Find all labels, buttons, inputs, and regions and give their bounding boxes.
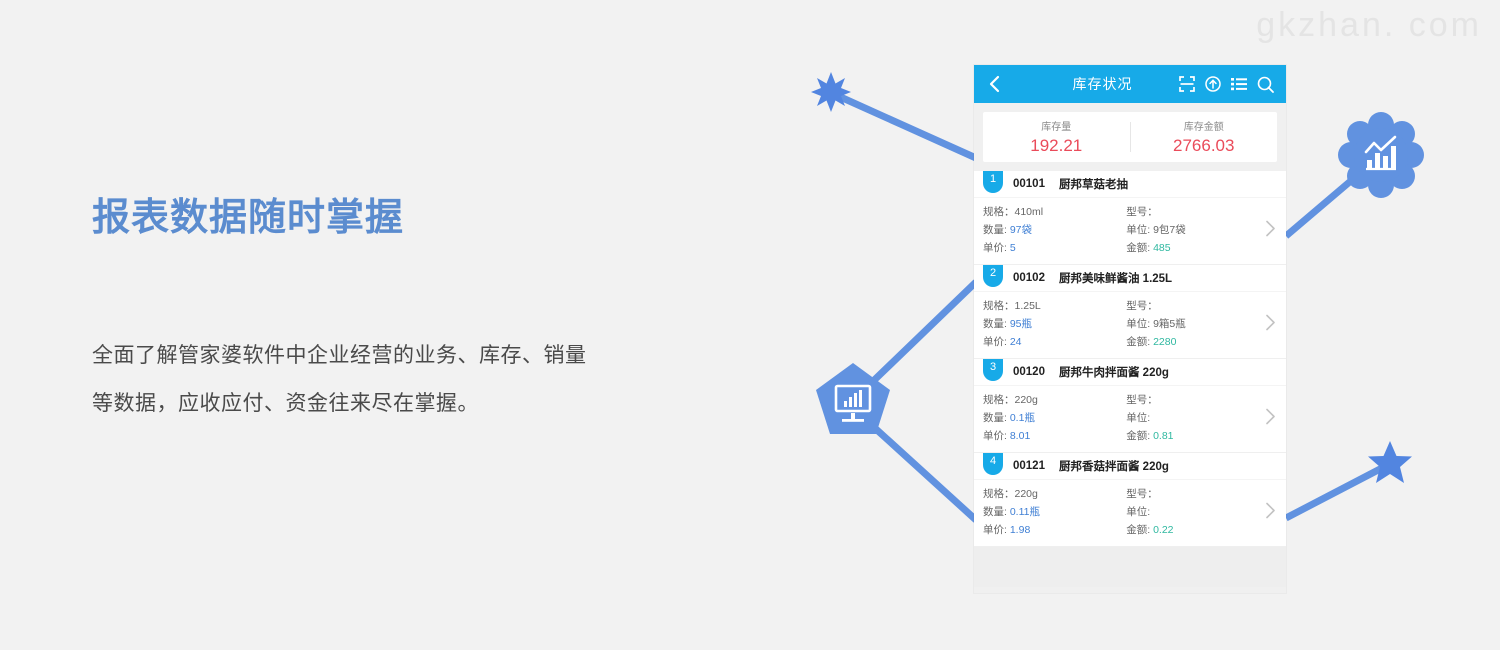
amount-value: 0.22: [1153, 524, 1173, 536]
unit-label: 单位:: [1126, 412, 1150, 424]
star-badge: [1368, 441, 1412, 483]
back-button[interactable]: [984, 75, 1006, 93]
spec-label: 规格：: [983, 488, 1015, 500]
unit-label: 单位:: [1126, 506, 1150, 518]
marketing-copy: 报表数据随时掌握: [92, 196, 612, 242]
item-left-column: 规格：410ml 数量: 97袋 单价: 5: [983, 203, 1118, 257]
item-unit-row: 单位: 9包7袋: [1126, 221, 1261, 239]
qty-label: 数量:: [983, 224, 1007, 236]
inventory-summary-card: 库存量 192.21 库存金额 2766.03: [983, 112, 1277, 162]
item-left-column: 规格：1.25L 数量: 95瓶 单价: 24: [983, 297, 1118, 351]
spec-value: 410ml: [1015, 206, 1044, 218]
item-code: 00121: [1013, 460, 1045, 472]
page-title: 报表数据随时掌握: [92, 196, 612, 242]
search-icon[interactable]: [1257, 76, 1274, 93]
qty-value: 95瓶: [1010, 318, 1032, 330]
item-name: 厨邦美味鲜酱油 1.25L: [1059, 270, 1172, 286]
pentagon-shape: [816, 363, 890, 434]
inventory-list: 1 00101 厨邦草菇老抽 规格：410ml 数量: 97袋 单价: 5 型号…: [974, 171, 1286, 547]
spec-value: 220g: [1015, 488, 1038, 500]
starburst-badge: [811, 72, 851, 112]
item-model-row: 型号：: [1126, 391, 1261, 409]
chevron-left-icon: [989, 75, 1001, 93]
phone-mockup: 库存状况: [974, 65, 1286, 593]
item-left-column: 规格：220g 数量: 0.1瓶 单价: 8.01: [983, 391, 1118, 445]
bar-line-chart-icon: [1366, 137, 1396, 169]
list-item[interactable]: 4 00121 厨邦香菇拌面酱 220g 规格：220g 数量: 0.11瓶 单…: [974, 453, 1286, 547]
model-label: 型号：: [1126, 488, 1158, 500]
price-label: 单价:: [983, 524, 1007, 536]
spec-label: 规格：: [983, 394, 1015, 406]
item-right-column: 型号： 单位: 金额: 0.81: [1118, 391, 1261, 445]
item-spec-row: 规格：410ml: [983, 203, 1118, 221]
item-qty-row: 数量: 0.11瓶: [983, 503, 1118, 521]
item-qty-row: 数量: 97袋: [983, 221, 1118, 239]
chevron-right-icon[interactable]: [1265, 314, 1276, 337]
item-code: 00120: [1013, 366, 1045, 378]
summary-value: 2766.03: [1131, 136, 1278, 156]
item-index-badge: 4: [983, 453, 1003, 475]
item-model-row: 型号：: [1126, 485, 1261, 503]
item-amount-row: 金额: 485: [1126, 239, 1261, 257]
item-name: 厨邦香菇拌面酱 220g: [1059, 458, 1169, 474]
item-spec-row: 规格：1.25L: [983, 297, 1118, 315]
price-label: 单价:: [983, 430, 1007, 442]
item-model-row: 型号：: [1126, 203, 1261, 221]
list-empty-area: [974, 547, 1286, 587]
model-label: 型号：: [1126, 206, 1158, 218]
app-topbar: 库存状况: [974, 65, 1286, 103]
chevron-right-icon[interactable]: [1265, 408, 1276, 431]
scan-frame-icon[interactable]: [1179, 76, 1195, 92]
amount-value: 2280: [1153, 336, 1176, 348]
list-item-header: 3 00120 厨邦牛肉拌面酱 220g: [974, 359, 1286, 386]
item-code: 00101: [1013, 178, 1045, 190]
unit-value: 9包7袋: [1153, 224, 1186, 236]
model-label: 型号：: [1126, 394, 1158, 406]
connector-line-cloud: [1286, 168, 1366, 236]
item-qty-row: 数量: 0.1瓶: [983, 409, 1118, 427]
item-unit-row: 单位:: [1126, 503, 1261, 521]
unit-value: 9箱5瓶: [1153, 318, 1186, 330]
qty-value: 0.1瓶: [1010, 412, 1035, 424]
summary-cell-amount: 库存金额 2766.03: [1131, 118, 1278, 156]
spec-value: 1.25L: [1015, 300, 1041, 312]
qty-value: 0.11瓶: [1010, 506, 1040, 518]
item-price-row: 单价: 5: [983, 239, 1118, 257]
price-label: 单价:: [983, 242, 1007, 254]
star-icon: [1368, 441, 1412, 483]
qty-value: 97袋: [1010, 224, 1032, 236]
list-icon[interactable]: [1231, 77, 1247, 91]
item-name: 厨邦草菇老抽: [1059, 176, 1128, 192]
amount-value: 0.81: [1153, 430, 1173, 442]
amount-label: 金额:: [1126, 524, 1150, 536]
item-right-column: 型号： 单位: 金额: 0.22: [1118, 485, 1261, 539]
item-price-row: 单价: 1.98: [983, 521, 1118, 539]
price-value: 5: [1010, 242, 1016, 254]
amount-label: 金额:: [1126, 242, 1150, 254]
price-value: 1.98: [1010, 524, 1030, 536]
summary-label: 库存量: [983, 118, 1130, 133]
connector-line-pentagon-upper: [866, 282, 976, 388]
item-spec-row: 规格：220g: [983, 485, 1118, 503]
item-left-column: 规格：220g 数量: 0.11瓶 单价: 1.98: [983, 485, 1118, 539]
item-price-row: 单价: 8.01: [983, 427, 1118, 445]
price-value: 8.01: [1010, 430, 1030, 442]
list-item-body: 规格：220g 数量: 0.11瓶 单价: 1.98 型号： 单位: 金额: 0…: [974, 480, 1286, 546]
list-item[interactable]: 1 00101 厨邦草菇老抽 规格：410ml 数量: 97袋 单价: 5 型号…: [974, 171, 1286, 265]
topbar-actions: [1179, 76, 1276, 93]
list-item[interactable]: 3 00120 厨邦牛肉拌面酱 220g 规格：220g 数量: 0.1瓶 单价…: [974, 359, 1286, 453]
item-unit-row: 单位: 9箱5瓶: [1126, 315, 1261, 333]
item-unit-row: 单位:: [1126, 409, 1261, 427]
item-code: 00102: [1013, 272, 1045, 284]
list-item-header: 2 00102 厨邦美味鲜酱油 1.25L: [974, 265, 1286, 292]
qty-label: 数量:: [983, 318, 1007, 330]
summary-value: 192.21: [983, 136, 1130, 156]
spec-label: 规格：: [983, 300, 1015, 312]
qty-label: 数量:: [983, 412, 1007, 424]
connector-line-star: [1286, 468, 1382, 518]
item-right-column: 型号： 单位: 9箱5瓶 金额: 2280: [1118, 297, 1261, 351]
chevron-right-icon[interactable]: [1265, 502, 1276, 525]
amount-value: 485: [1153, 242, 1171, 254]
connector-line-starburst: [836, 95, 976, 158]
spec-value: 220g: [1015, 394, 1038, 406]
item-name: 厨邦牛肉拌面酱 220g: [1059, 364, 1169, 380]
item-qty-row: 数量: 95瓶: [983, 315, 1118, 333]
item-price-row: 单价: 24: [983, 333, 1118, 351]
starburst-icon: [811, 72, 851, 112]
monitor-chart-icon: [836, 386, 870, 422]
spec-label: 规格：: [983, 206, 1015, 218]
amount-label: 金额:: [1126, 430, 1150, 442]
list-item-header: 1 00101 厨邦草菇老抽: [974, 171, 1286, 198]
unit-label: 单位:: [1126, 224, 1150, 236]
item-amount-row: 金额: 2280: [1126, 333, 1261, 351]
item-index-badge: 1: [983, 171, 1003, 193]
item-spec-row: 规格：220g: [983, 391, 1118, 409]
summary-label: 库存金额: [1131, 118, 1278, 133]
item-right-column: 型号： 单位: 9包7袋 金额: 485: [1118, 203, 1261, 257]
pentagon-monitor-badge: [816, 363, 890, 434]
amount-label: 金额:: [1126, 336, 1150, 348]
summary-cell-quantity: 库存量 192.21: [983, 118, 1130, 156]
item-model-row: 型号：: [1126, 297, 1261, 315]
item-index-badge: 3: [983, 359, 1003, 381]
list-item[interactable]: 2 00102 厨邦美味鲜酱油 1.25L 规格：1.25L 数量: 95瓶 单…: [974, 265, 1286, 359]
list-item-body: 规格：410ml 数量: 97袋 单价: 5 型号： 单位: 9包7袋 金额: …: [974, 198, 1286, 264]
qty-label: 数量:: [983, 506, 1007, 518]
item-index-badge: 2: [983, 265, 1003, 287]
connector-line-pentagon-lower: [866, 420, 976, 520]
chevron-right-icon[interactable]: [1265, 220, 1276, 243]
list-item-body: 规格：220g 数量: 0.1瓶 单价: 8.01 型号： 单位: 金额: 0.…: [974, 386, 1286, 452]
app-title: 库存状况: [1006, 74, 1179, 94]
price-value: 24: [1010, 336, 1022, 348]
price-label: 单价:: [983, 336, 1007, 348]
item-amount-row: 金额: 0.22: [1126, 521, 1261, 539]
list-item-body: 规格：1.25L 数量: 95瓶 单价: 24 型号： 单位: 9箱5瓶 金额:…: [974, 292, 1286, 358]
item-amount-row: 金额: 0.81: [1126, 427, 1261, 445]
unit-label: 单位:: [1126, 318, 1150, 330]
marketing-body-text: 全面了解管家婆软件中企业经营的业务、库存、销量等数据，应收应付、资金往来尽在掌握…: [92, 332, 592, 428]
site-watermark: gkzhan. com: [1256, 6, 1482, 45]
arrow-up-circle-icon[interactable]: [1205, 76, 1221, 92]
list-item-header: 4 00121 厨邦香菇拌面酱 220g: [974, 453, 1286, 480]
model-label: 型号：: [1126, 300, 1158, 312]
cloud-chart-badge: [1338, 112, 1424, 198]
